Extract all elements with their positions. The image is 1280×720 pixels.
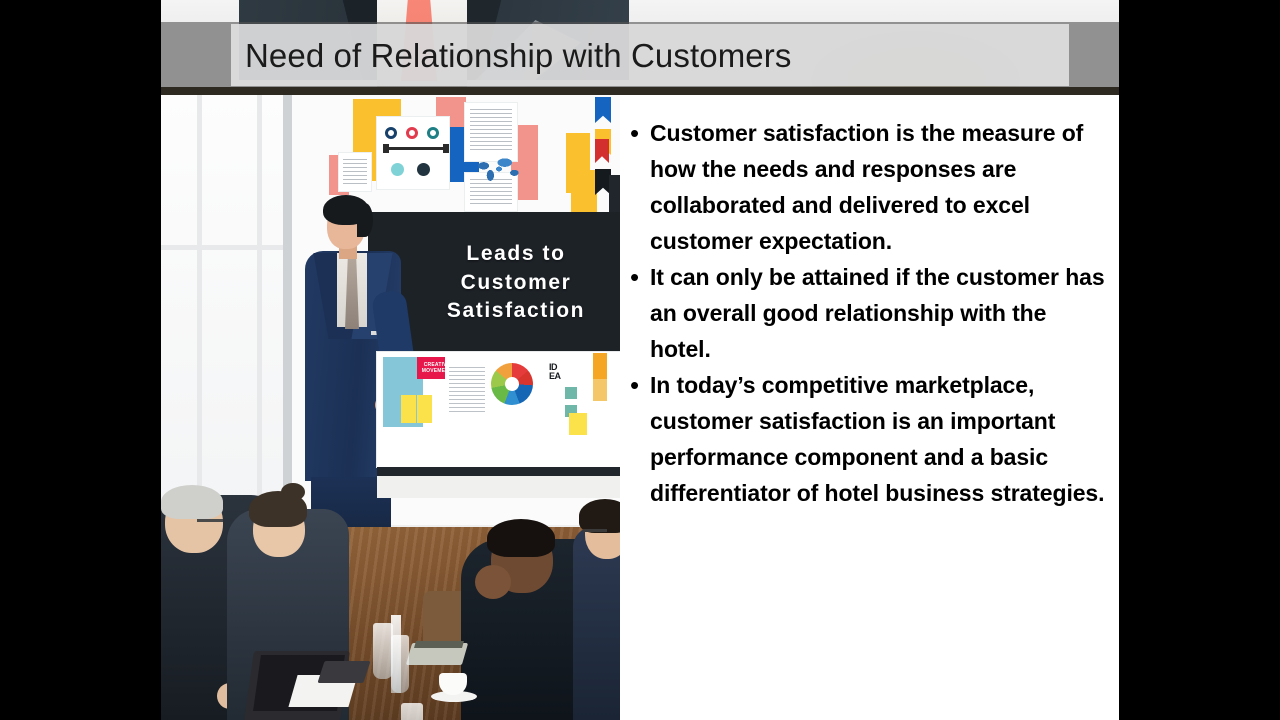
water-glass: [401, 703, 423, 720]
list-item: • It can only be attained if the custome…: [620, 259, 1119, 367]
idea-poster-text: ID EA: [549, 363, 561, 382]
bullet-marker-icon: •: [620, 259, 650, 295]
header-accent-strip: [161, 87, 1119, 95]
world-map-graphic: [475, 153, 523, 185]
water-glass: [391, 635, 409, 693]
list-item: • In today’s competitive marketplace, cu…: [620, 367, 1119, 511]
water-glass: [373, 623, 393, 679]
bullet-text: It can only be attained if the customer …: [650, 259, 1107, 367]
bullet-marker-icon: •: [620, 115, 650, 151]
bullet-text: In today’s competitive marketplace, cust…: [650, 367, 1107, 511]
meeting-room-photo: Leads to Customer Satisfaction CRE: [161, 95, 620, 720]
presentation-slide: Need of Relationship with Customers: [161, 0, 1119, 720]
bullet-list: • Customer satisfaction is the measure o…: [620, 95, 1119, 720]
letterbox-stage: Need of Relationship with Customers: [0, 0, 1280, 720]
eyeglasses: [583, 529, 607, 532]
eyeglasses: [197, 519, 223, 522]
window-wall: [161, 95, 287, 525]
page-title: Need of Relationship with Customers: [245, 39, 791, 72]
board-text-line-1: Leads to: [412, 240, 620, 268]
title-plate: Need of Relationship with Customers: [231, 24, 1069, 86]
idea-line-2: EA: [549, 372, 561, 381]
notebook: [317, 661, 370, 683]
bullet-text: Customer satisfaction is the measure of …: [650, 115, 1107, 259]
slide-header: Need of Relationship with Customers: [161, 0, 1119, 95]
list-item: • Customer satisfaction is the measure o…: [620, 115, 1119, 259]
board-text-line-3: Satisfaction: [412, 297, 620, 325]
board-text-line-2: Customer: [412, 269, 620, 297]
bullet-marker-icon: •: [620, 367, 650, 403]
